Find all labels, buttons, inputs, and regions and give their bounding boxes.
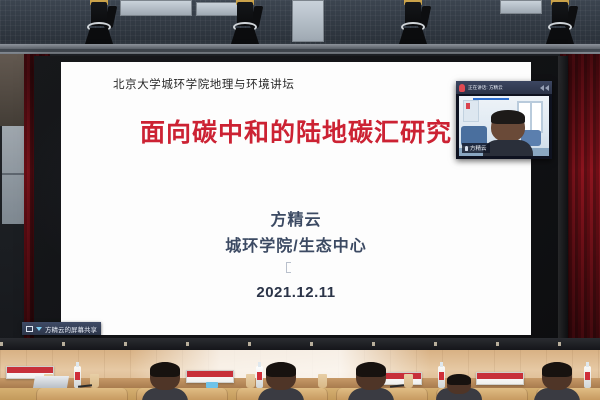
screen-share-label: 方精云的屏幕共享 (45, 324, 97, 334)
microphone-icon (459, 84, 465, 92)
share-arrow-icon (36, 327, 42, 331)
video-bg-bar (473, 98, 509, 100)
audience-member (142, 362, 188, 400)
water-bottle (584, 366, 591, 388)
laptop (33, 376, 69, 388)
paper-cup (246, 374, 255, 388)
stage-light (545, 2, 575, 46)
slide-speaker-name: 方精云 (61, 206, 531, 230)
stage-edge-lights (0, 342, 600, 346)
participant-name-badge: 方精云 (462, 143, 490, 153)
participant-name-text: 方精云 (470, 144, 487, 152)
stage-front-band (0, 338, 600, 350)
ceiling-panel (500, 0, 542, 14)
slide-affiliation: 城环学院/生态中心 (61, 232, 531, 256)
video-panel-titlebar[interactable]: 正在讲话: 方精云 (456, 81, 552, 94)
audience-member (534, 362, 580, 400)
ceiling-truss (0, 0, 600, 58)
participant-video-feed[interactable]: 方精云 (459, 96, 549, 156)
stage-light (398, 2, 428, 46)
ceiling-panel (292, 0, 324, 42)
conference-hall-photo: 北京大学城环学院地理与环境讲坛 面向碳中和的陆地碳汇研究 方精云 城环学院/生态… (0, 0, 600, 400)
paper-cup (318, 374, 327, 388)
video-bg-object (466, 103, 470, 109)
slide-header-text: 北京大学城环学院地理与环境讲坛 (113, 76, 295, 92)
seat (36, 388, 128, 400)
audience-member (258, 362, 304, 400)
speaking-label: 正在讲话: 方精云 (468, 84, 531, 90)
participant-body (483, 140, 533, 156)
audience-member (348, 362, 394, 400)
participant-hair (491, 110, 525, 124)
video-conference-panel[interactable]: 正在讲话: 方精云 方精云 (456, 81, 552, 159)
table-name-card (476, 372, 524, 385)
text-cursor (286, 262, 287, 273)
slide-date: 2021.12.11 (61, 284, 531, 301)
microphone-icon (465, 146, 468, 151)
audience-member (436, 374, 482, 400)
ceiling-panel (120, 0, 192, 16)
paper-cup (404, 374, 413, 388)
double-chevron-right-icon[interactable] (540, 85, 549, 91)
monitor-icon (26, 326, 33, 332)
stage-light (230, 2, 260, 46)
screen-share-indicator[interactable]: 方精云的屏幕共享 (22, 322, 101, 335)
stage-light (84, 2, 114, 46)
